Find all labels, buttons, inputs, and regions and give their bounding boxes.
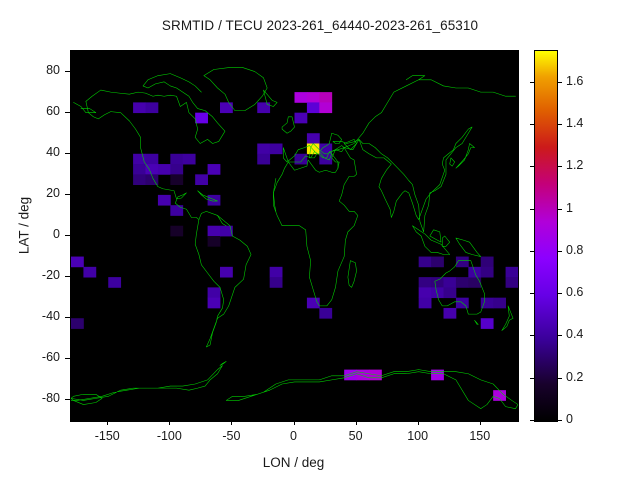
colorbar-tick-label: 1.6 (566, 74, 626, 88)
colorbar-tick-label: 0.4 (566, 327, 626, 341)
y-tick (65, 358, 70, 359)
y-tick-label: -60 (8, 350, 60, 364)
y-tick (65, 112, 70, 113)
colorbar-tick-inner (530, 166, 535, 167)
colorbar-tick-label: 0 (566, 412, 626, 426)
y-tick (65, 194, 70, 195)
y-tick (65, 235, 70, 236)
y-tick-label: 20 (8, 186, 60, 200)
colorbar-gradient (535, 51, 557, 421)
y-tick-label: -40 (8, 309, 60, 323)
y-tick-label: 80 (8, 63, 60, 77)
y-tick (65, 399, 70, 400)
y-tick (65, 317, 70, 318)
map-plot-area[interactable] (70, 50, 519, 422)
colorbar-tick (557, 124, 562, 125)
x-tick (107, 420, 108, 425)
x-tick (480, 420, 481, 425)
x-tick-label: 50 (326, 429, 386, 443)
colorbar-tick-inner (530, 124, 535, 125)
x-tick-label: 0 (264, 429, 324, 443)
colorbar-tick (557, 251, 562, 252)
x-tick (231, 420, 232, 425)
x-tick-label: -150 (77, 429, 137, 443)
colorbar-tick-label: 0.6 (566, 285, 626, 299)
colorbar[interactable] (534, 50, 558, 422)
page-title: SRMTID / TECU 2023-261_64440-2023-261_65… (0, 18, 640, 33)
colorbar-tick (557, 420, 562, 421)
y-tick (65, 276, 70, 277)
x-tick-label: 100 (388, 429, 448, 443)
y-tick (65, 71, 70, 72)
y-tick-label: 0 (8, 227, 60, 241)
y-tick-label: 60 (8, 104, 60, 118)
x-tick-label: -100 (139, 429, 199, 443)
x-tick-label: -50 (201, 429, 261, 443)
colorbar-tick (557, 209, 562, 210)
colorbar-tick-inner (530, 335, 535, 336)
colorbar-tick (557, 378, 562, 379)
colorbar-tick-inner (530, 378, 535, 379)
colorbar-tick-inner (530, 420, 535, 421)
heatmap-canvas[interactable] (71, 51, 518, 421)
colorbar-tick-label: 1.2 (566, 158, 626, 172)
colorbar-tick-label: 1.4 (566, 116, 626, 130)
colorbar-tick-inner (530, 293, 535, 294)
colorbar-tick-inner (530, 251, 535, 252)
x-tick (418, 420, 419, 425)
colorbar-tick (557, 335, 562, 336)
y-tick (65, 153, 70, 154)
x-tick (294, 420, 295, 425)
colorbar-tick-label: 0.8 (566, 243, 626, 257)
colorbar-tick (557, 82, 562, 83)
colorbar-tick-label: 1 (566, 201, 626, 215)
colorbar-tick-inner (530, 82, 535, 83)
x-tick (356, 420, 357, 425)
x-axis-label: LON / deg (70, 455, 517, 470)
colorbar-tick (557, 166, 562, 167)
y-tick-label: -80 (8, 391, 60, 405)
figure-root: SRMTID / TECU 2023-261_64440-2023-261_65… (0, 0, 640, 480)
x-tick-label: 150 (450, 429, 510, 443)
y-tick-label: -20 (8, 268, 60, 282)
y-tick-label: 40 (8, 145, 60, 159)
colorbar-tick (557, 293, 562, 294)
colorbar-tick-inner (530, 209, 535, 210)
x-tick (169, 420, 170, 425)
colorbar-tick-label: 0.2 (566, 370, 626, 384)
